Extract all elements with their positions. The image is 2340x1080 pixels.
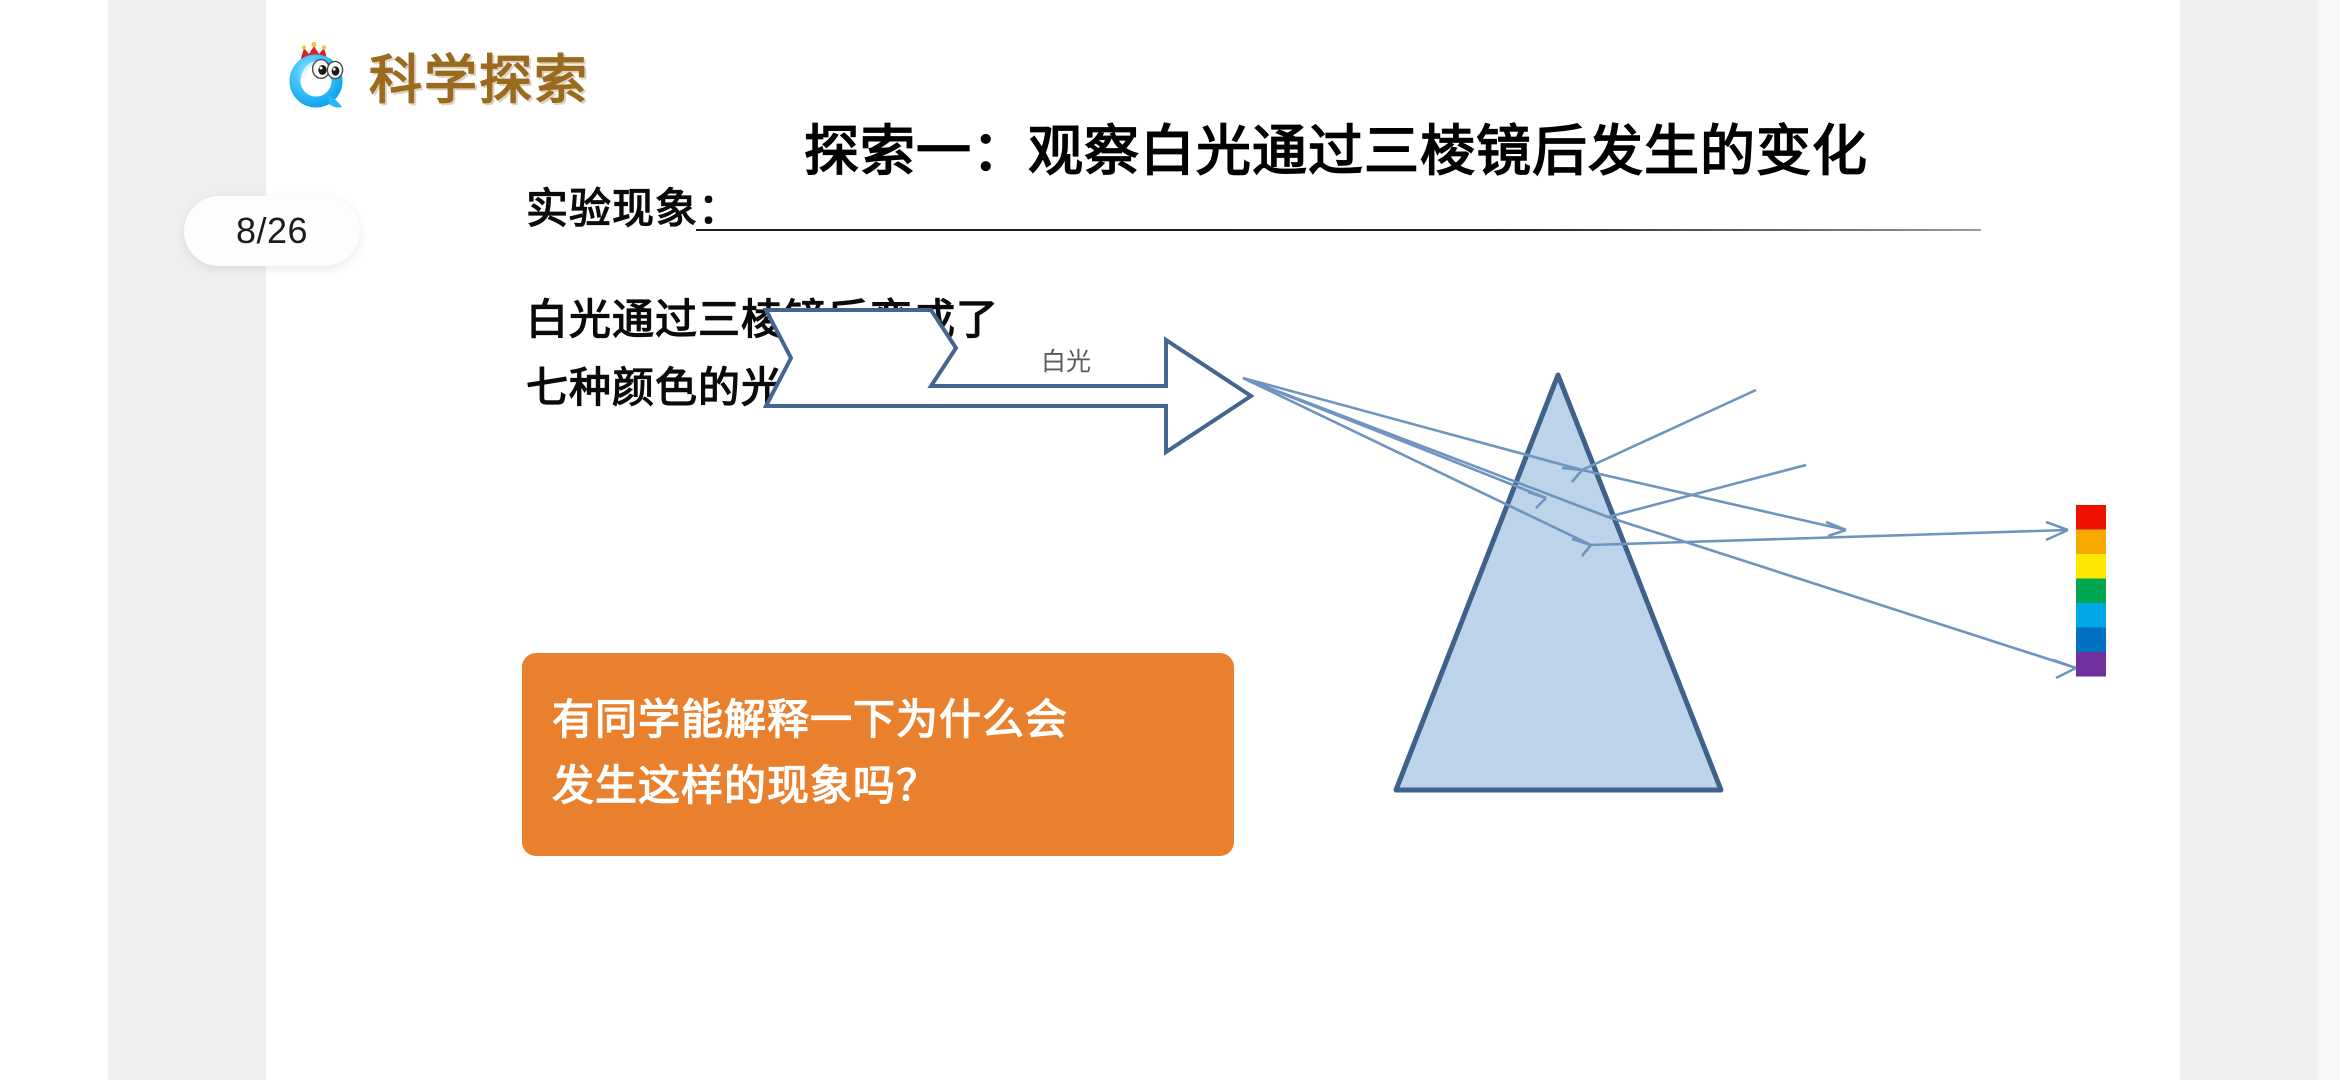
- prism-triangle: [1396, 375, 1721, 790]
- q-mascot-crown-icon: [283, 39, 357, 113]
- slide-canvas: 科学探索 探索一：观察白光通过三棱镜后发生的变化 实验现象： 白光通过三棱镜后变…: [266, 0, 2180, 1080]
- page-title: 探索一：观察白光通过三棱镜后发生的变化: [686, 118, 1986, 185]
- chrome-left-gutter: [108, 0, 266, 1080]
- spectrum-bands: [2076, 505, 2106, 677]
- spectrum-band-red: [2076, 505, 2106, 530]
- spectrum-band-purple: [2076, 652, 2106, 677]
- spectrum-band-yellow: [2076, 554, 2106, 579]
- spectrum-band-blue: [2076, 628, 2106, 653]
- white-light-arrow: [766, 310, 1251, 452]
- spectrum-band-orange: [2076, 530, 2106, 555]
- brand-logo: 科学探索: [283, 38, 589, 114]
- brand-name: 科学探索: [369, 38, 589, 114]
- chrome-right-gutter: [2180, 0, 2340, 1080]
- slide-viewport: 科学探索 探索一：观察白光通过三棱镜后发生的变化 实验现象： 白光通过三棱镜后变…: [0, 0, 2340, 1080]
- spectrum-band-cyan: [2076, 603, 2106, 628]
- chrome-right-edge: [2318, 0, 2340, 1080]
- slide-title-block: 探索一：观察白光通过三棱镜后发生的变化: [686, 118, 1986, 228]
- prism-dispersion-diagram: 白光: [746, 230, 2106, 850]
- page-indicator-label: 8/26: [236, 210, 308, 252]
- spectrum-band-green: [2076, 579, 2106, 604]
- title-divider: [696, 229, 1981, 231]
- page-indicator[interactable]: 8/26: [184, 196, 360, 266]
- chrome-left-margin: [0, 0, 108, 1080]
- white-light-label: 白光: [1041, 347, 1091, 376]
